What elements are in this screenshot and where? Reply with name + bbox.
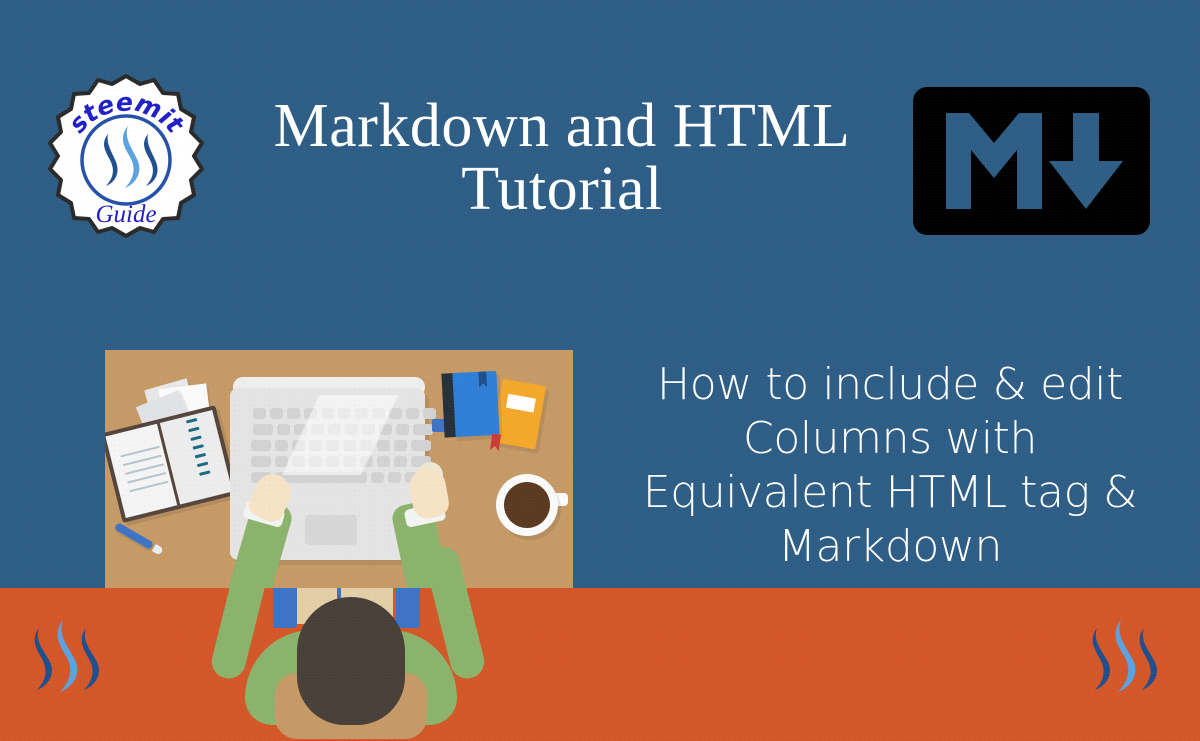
desk-illustration: [105, 350, 573, 588]
notebook-spine: [441, 373, 455, 437]
blue-notebook: [450, 371, 499, 437]
notebook-text-lines: [120, 446, 170, 499]
subtitle-line-1: How to include & edit: [596, 358, 1184, 412]
subtitle-line-4: Markdown: [596, 520, 1184, 574]
steem-logo-right: [1081, 612, 1157, 708]
page-title: Markdown and HTML Tutorial: [226, 95, 898, 221]
laptop-screen-glare: [230, 395, 425, 475]
laptop-trackpad: [305, 515, 357, 545]
steem-wave-icon: [1093, 620, 1157, 692]
open-notebook: [105, 405, 237, 523]
markdown-logo: [913, 87, 1150, 235]
page-subtitle: How to include & edit Columns with Equiv…: [596, 358, 1184, 574]
background-orange-band: [0, 588, 1200, 741]
steem-logo-left: [23, 612, 99, 708]
title-line-2: Tutorial: [461, 155, 663, 223]
poster-canvas: steemit Guide Markdown and HTML Tutorial: [0, 0, 1200, 741]
markdown-plate: [913, 87, 1150, 235]
subtitle-line-2: Columns with: [596, 412, 1184, 466]
coffee-liquid: [504, 482, 550, 528]
notebook-ribbon-icon: [478, 371, 487, 387]
blue-desk-item: [273, 588, 297, 628]
blue-pen: [114, 522, 154, 550]
red-bookmark-icon: [490, 433, 501, 451]
steem-wave-icon: [35, 620, 99, 692]
logo-bottom-text: Guide: [95, 201, 156, 228]
steemit-guide-logo: steemit Guide: [36, 72, 216, 252]
blue-desk-item: [396, 588, 420, 628]
pen-tip: [152, 544, 164, 555]
book-label: [506, 394, 536, 413]
title-line-1: Markdown and HTML: [274, 92, 851, 160]
subtitle-line-3: Equivalent HTML tag &: [596, 466, 1184, 520]
person-head: [297, 597, 405, 725]
